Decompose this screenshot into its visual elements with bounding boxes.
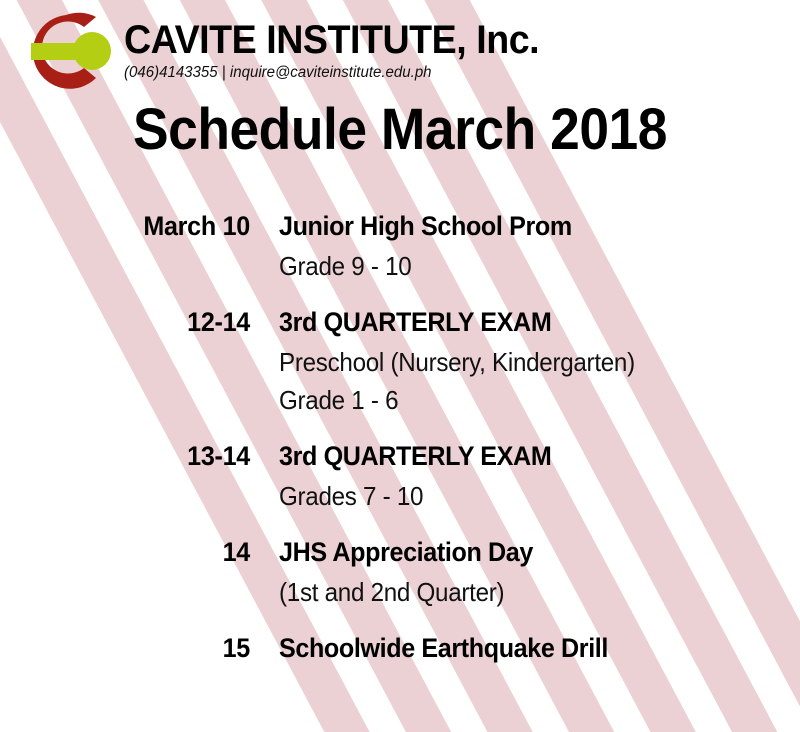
schedule-event-title: Junior High School Prom	[279, 205, 764, 247]
schedule-event-title: 3rd QUARTERLY EXAM	[279, 435, 764, 477]
schedule-event-detail: Grade 9 - 10	[279, 247, 764, 285]
schedule-list: March 10 Junior High School Prom Grade 9…	[0, 205, 800, 685]
schedule-entry: Schoolwide Earthquake Drill	[279, 627, 800, 669]
schedule-date: 15	[18, 627, 251, 669]
schedule-row: March 10 Junior High School Prom Grade 9…	[0, 205, 800, 285]
school-header: CAVITE INSTITUTE, Inc. (046)4143355 | in…	[18, 8, 566, 94]
schedule-entry: JHS Appreciation Day (1st and 2nd Quarte…	[279, 531, 800, 611]
schedule-event-detail: (1st and 2nd Quarter)	[279, 573, 764, 611]
school-header-text: CAVITE INSTITUTE, Inc. (046)4143355 | in…	[124, 8, 566, 83]
schedule-event-title: 3rd QUARTERLY EXAM	[279, 301, 764, 343]
schedule-date: 13-14	[18, 435, 251, 477]
page-title: Schedule March 2018	[32, 100, 768, 161]
schedule-row: 15 Schoolwide Earthquake Drill	[0, 627, 800, 669]
schedule-event-title: Schoolwide Earthquake Drill	[279, 627, 764, 669]
schedule-row: 14 JHS Appreciation Day (1st and 2nd Qua…	[0, 531, 800, 611]
cavite-institute-logo-icon	[18, 10, 114, 94]
schedule-event-title: JHS Appreciation Day	[279, 531, 764, 573]
schedule-row: 13-14 3rd QUARTERLY EXAM Grades 7 - 10	[0, 435, 800, 515]
schedule-entry: 3rd QUARTERLY EXAM Grades 7 - 10	[279, 435, 800, 515]
schedule-date: 14	[18, 531, 251, 573]
schedule-date: March 10	[18, 205, 251, 247]
schedule-date: 12-14	[18, 301, 251, 343]
school-contact-info: (046)4143355 | inquire@caviteinstitute.e…	[124, 64, 552, 83]
schedule-entry: Junior High School Prom Grade 9 - 10	[279, 205, 800, 285]
schedule-event-detail: Grades 7 - 10	[279, 477, 764, 515]
schedule-event-detail: Preschool (Nursery, Kindergarten)	[279, 343, 764, 381]
poster-page: CAVITE INSTITUTE, Inc. (046)4143355 | in…	[0, 0, 800, 732]
schedule-event-detail: Grade 1 - 6	[279, 381, 764, 419]
school-name: CAVITE INSTITUTE, Inc.	[124, 20, 539, 60]
schedule-entry: 3rd QUARTERLY EXAM Preschool (Nursery, K…	[279, 301, 800, 419]
schedule-row: 12-14 3rd QUARTERLY EXAM Preschool (Nurs…	[0, 301, 800, 419]
